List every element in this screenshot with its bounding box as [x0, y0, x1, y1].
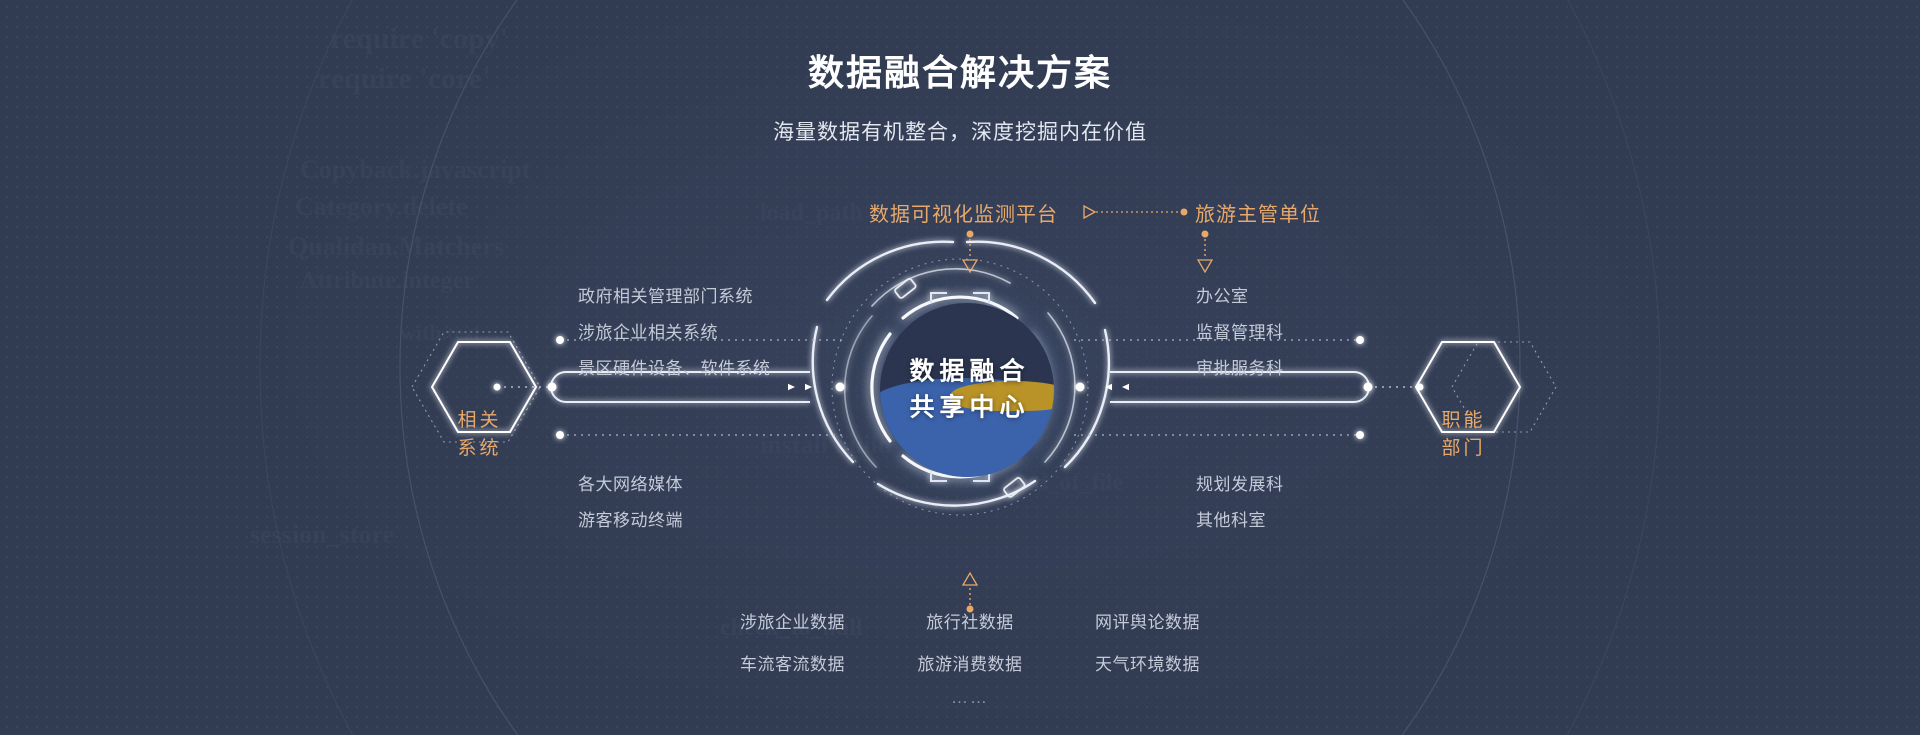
bottom-item-0-1[interactable]: 旅行社数据	[895, 608, 1045, 633]
bottom-data-row: 涉旅企业数据 旅行社数据 网评舆论数据	[740, 608, 1200, 633]
right-lower-item-0[interactable]: 规划发展科	[1196, 470, 1284, 495]
bottom-data-row: 车流客流数据 旅游消费数据 天气环境数据	[740, 650, 1200, 675]
node-related-systems[interactable]: 相关 系统	[412, 369, 544, 501]
left-upper-item-2[interactable]: 景区硬件设备、软件系统	[578, 354, 771, 379]
node-right-line-1: 职能	[1438, 407, 1485, 435]
center-line-2: 共享中心	[817, 390, 1117, 426]
node-related-systems-label: 相关 系统	[412, 369, 544, 501]
bottom-item-0-2[interactable]: 网评舆论数据	[1050, 608, 1200, 633]
vertical-connector-bottom	[963, 573, 977, 613]
bottom-item-0-0[interactable]: 涉旅企业数据	[740, 608, 890, 633]
node-functional-departments-label: 职能 部门	[1396, 369, 1528, 501]
label-visualization-platform[interactable]: 数据可视化监测平台	[869, 198, 1058, 227]
bottom-data-ellipsis: ……	[740, 688, 1200, 708]
center-line-1: 数据融合	[817, 355, 1117, 391]
left-rail	[494, 336, 847, 439]
node-functional-departments[interactable]: 职能 部门	[1396, 369, 1528, 501]
bottom-data-sources: 涉旅企业数据 旅行社数据 网评舆论数据 车流客流数据 旅游消费数据 天气环境数据…	[740, 608, 1200, 708]
header: 数据融合解决方案 海量数据有机整合，深度挖掘内在价值	[0, 0, 1920, 146]
node-left-line-1: 相关	[454, 407, 501, 435]
label-tourism-authority[interactable]: 旅游主管单位	[1195, 198, 1321, 227]
center-hub[interactable]: 数据融合 共享中心	[817, 240, 1117, 540]
node-left-line-2: 系统	[454, 435, 501, 463]
node-right-line-2: 部门	[1438, 435, 1485, 463]
left-lower-item-0[interactable]: 各大网络媒体	[578, 470, 683, 495]
center-hub-label: 数据融合 共享中心	[817, 355, 1117, 426]
left-upper-item-0[interactable]: 政府相关管理部门系统	[578, 282, 753, 307]
left-lower-item-1[interactable]: 游客移动终端	[578, 506, 683, 531]
right-upper-item-1[interactable]: 监督管理科	[1196, 318, 1284, 343]
left-upper-item-1[interactable]: 涉旅企业相关系统	[578, 318, 718, 343]
top-label-connector	[1084, 206, 1188, 218]
right-lower-item-1[interactable]: 其他科室	[1196, 506, 1266, 531]
right-upper-item-2[interactable]: 审批服务科	[1196, 354, 1284, 379]
bottom-item-1-0[interactable]: 车流客流数据	[740, 650, 890, 675]
page-subtitle: 海量数据有机整合，深度挖掘内在价值	[0, 116, 1920, 146]
right-upper-item-0[interactable]: 办公室	[1196, 282, 1249, 307]
page-title: 数据融合解决方案	[0, 44, 1920, 96]
bottom-item-1-1[interactable]: 旅游消费数据	[895, 650, 1045, 675]
right-rail	[1074, 336, 1424, 439]
bottom-item-1-2[interactable]: 天气环境数据	[1050, 650, 1200, 675]
vertical-connector-right-top	[1198, 231, 1212, 273]
